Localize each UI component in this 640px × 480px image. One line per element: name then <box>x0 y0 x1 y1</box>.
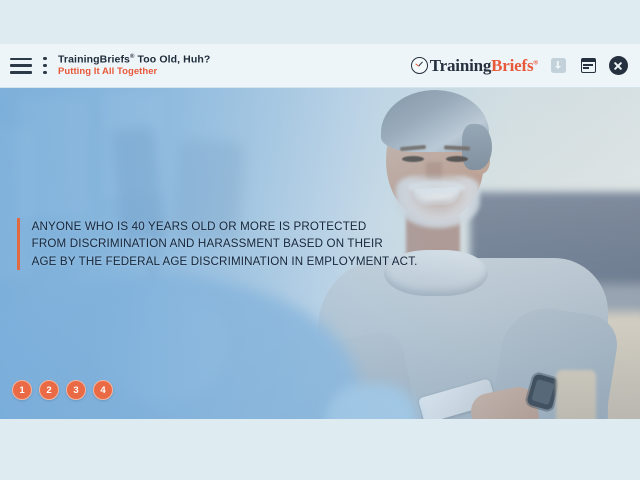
kebab-dot <box>43 64 46 67</box>
logo-word-training: Training <box>430 56 491 75</box>
download-icon <box>551 58 566 73</box>
hamburger-icon[interactable] <box>10 58 32 74</box>
stopwatch-icon <box>411 57 428 74</box>
player-window: TrainingBriefs® Too Old, Huh? Putting It… <box>0 0 640 480</box>
header-left-group: TrainingBriefs® Too Old, Huh? Putting It… <box>0 44 210 88</box>
notes-line <box>583 67 589 69</box>
hamburger-line <box>10 71 32 74</box>
kebab-dot <box>43 71 46 74</box>
slide-pager: 1 2 3 4 <box>12 380 113 400</box>
pager-item-4[interactable]: 4 <box>93 380 113 400</box>
kebab-dot <box>43 57 46 60</box>
notes-button[interactable] <box>578 56 598 76</box>
caption-text: ANYONE WHO IS 40 YEARS OLD OR MORE IS PR… <box>32 218 418 270</box>
hamburger-line <box>10 64 32 67</box>
header-right-group: TrainingBriefs® <box>411 44 640 88</box>
course-subtitle: Putting It All Together <box>58 67 210 78</box>
course-title: TrainingBriefs® Too Old, Huh? <box>58 54 210 66</box>
notes-icon <box>581 58 596 73</box>
course-title-rest: Too Old, Huh? <box>135 54 211 66</box>
close-icon <box>609 56 628 75</box>
close-button[interactable] <box>608 56 628 76</box>
more-vertical-icon[interactable] <box>42 57 48 74</box>
player-header: TrainingBriefs® Too Old, Huh? Putting It… <box>0 44 640 88</box>
course-title-brand: TrainingBriefs <box>58 54 130 66</box>
logo-wordmark: TrainingBriefs® <box>430 56 538 76</box>
trainingbriefs-logo: TrainingBriefs® <box>411 56 538 76</box>
notes-line <box>583 64 593 66</box>
pager-item-1[interactable]: 1 <box>12 380 32 400</box>
header-titles: TrainingBriefs® Too Old, Huh? Putting It… <box>58 53 210 78</box>
notes-icon-lines <box>583 64 593 70</box>
slide-stage: ANYONE WHO IS 40 YEARS OLD OR MORE IS PR… <box>0 88 640 419</box>
logo-word-briefs: Briefs <box>491 56 533 75</box>
caption-accent-bar <box>17 218 20 270</box>
slide-caption: ANYONE WHO IS 40 YEARS OLD OR MORE IS PR… <box>17 218 418 270</box>
pager-item-2[interactable]: 2 <box>39 380 59 400</box>
pager-item-3[interactable]: 3 <box>66 380 86 400</box>
logo-registered-mark: ® <box>533 59 538 66</box>
download-button[interactable] <box>548 56 568 76</box>
hamburger-line <box>10 58 32 61</box>
